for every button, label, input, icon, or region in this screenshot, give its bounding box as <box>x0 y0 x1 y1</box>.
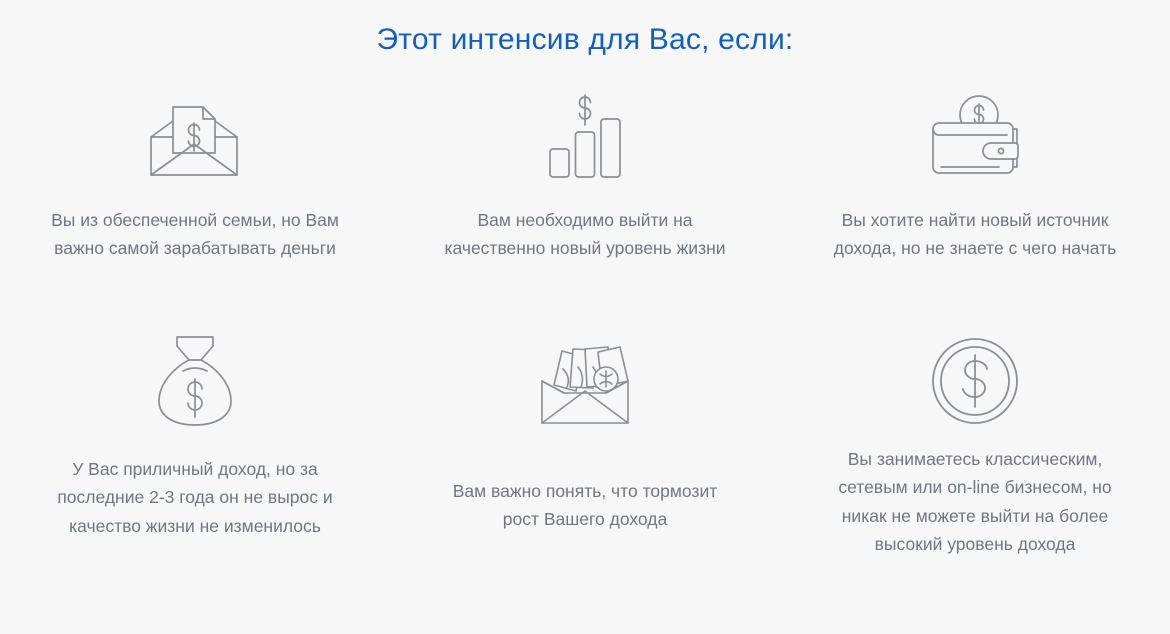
benefit-item: Вы хотите найти новый источник дохода, н… <box>780 76 1170 321</box>
benefit-item: Вам важно понять, что тормозит рост Ваше… <box>390 321 780 571</box>
benefit-item: У Вас приличный доход, но за последние 2… <box>0 321 390 571</box>
wallet-with-dollar-coin-icon <box>925 76 1025 194</box>
benefit-text: Вы хотите найти новый источник дохода, н… <box>834 206 1117 263</box>
dollar-coin-icon <box>929 321 1021 441</box>
benefit-item: Вы занимаетесь классическим, сетевым или… <box>780 321 1170 571</box>
benefit-text: У Вас приличный доход, но за последние 2… <box>57 455 332 540</box>
envelope-with-dollar-document-icon <box>143 76 247 194</box>
benefit-item: Вы из обеспеченной семьи, но Вам важно с… <box>0 76 390 321</box>
benefit-item: Вам необходимо выйти на качественно новы… <box>390 76 780 321</box>
benefit-text: Вам необходимо выйти на качественно новы… <box>444 206 725 263</box>
envelope-with-banknotes-icon <box>532 321 638 441</box>
money-bag-with-dollar-icon <box>151 321 239 441</box>
benefit-text: Вы занимаетесь классическим, сетевым или… <box>838 445 1111 558</box>
benefit-text: Вы из обеспеченной семьи, но Вам важно с… <box>51 206 339 263</box>
benefits-grid: Вы из обеспеченной семьи, но Вам важно с… <box>0 76 1170 571</box>
benefits-section: Этот интенсив для Вас, если: Вы из обесп… <box>0 0 1170 634</box>
page-title: Этот интенсив для Вас, если: <box>0 0 1170 58</box>
benefit-text: Вам важно понять, что тормозит рост Ваше… <box>453 477 718 534</box>
bar-chart-with-dollar-icon <box>547 76 623 194</box>
